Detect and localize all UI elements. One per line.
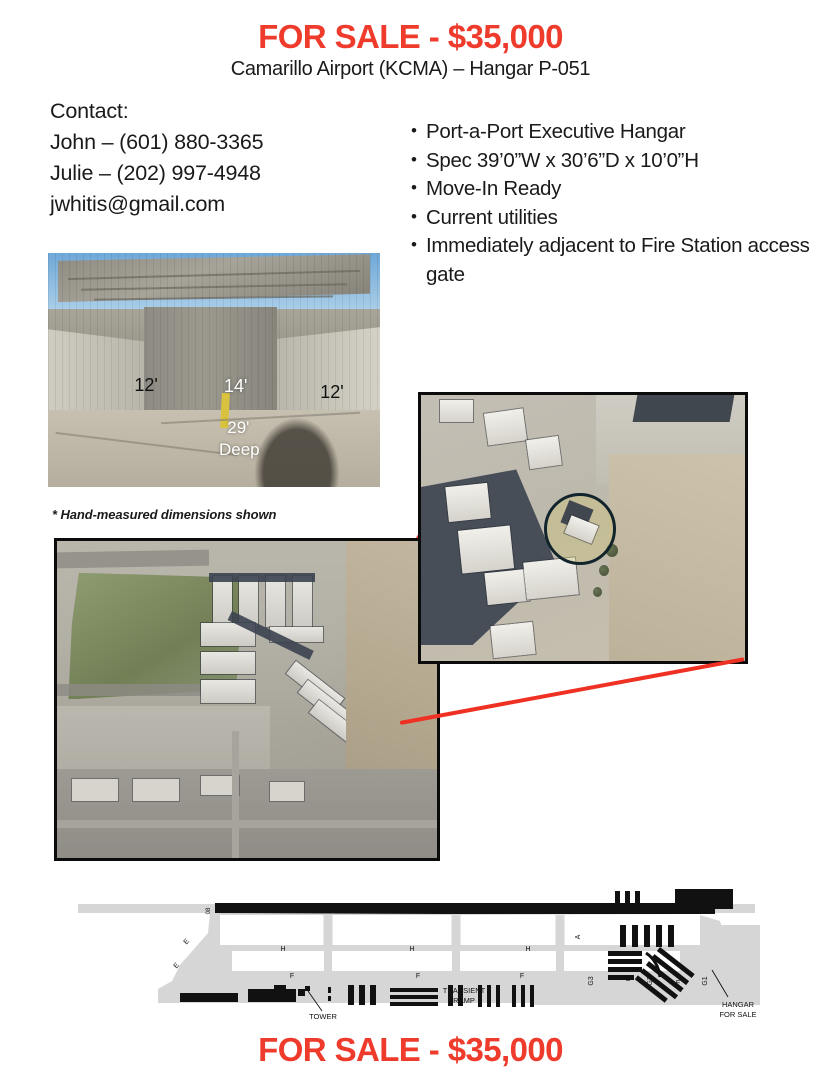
diagram-building [632,925,638,947]
aerial-building [270,782,304,801]
inset-building [491,622,536,658]
diagram-building [370,985,376,1005]
diagram-building [180,993,238,1002]
list-item: • Spec 39’0”W x 30’6”D x 10’0”H [411,147,811,176]
aerial-hangar [201,652,254,674]
connector-line-lower [400,657,745,725]
runway-label-west: 08 [206,907,212,914]
feature-list: • Port-a-Port Executive Hangar • Spec 39… [411,118,811,289]
runway-label-east: 26 [566,907,572,914]
diagram-building [328,996,331,1001]
taxiway-label-g1: G1 [702,976,709,985]
taxiway-label-h1: H [280,946,285,953]
diagram-building [298,989,305,996]
contact-block: Contact: John – (601) 880-3365 Julie – (… [50,96,263,220]
contact-line-julie: Julie – (202) 997-4948 [50,158,263,189]
diagram-building [608,967,642,972]
page-subheadline: Camarillo Airport (KCMA) – Hangar P-051 [0,58,821,81]
diagram-building [487,985,491,1007]
diagram-building [274,985,286,993]
inset-building [484,568,529,604]
list-item: • Immediately adjacent to Fire Station a… [411,232,811,289]
dimension-label-depth-word: Deep [219,440,260,460]
inset-building-roof [632,395,734,422]
taxiway-label-e1: E [183,938,192,946]
aerial-road [57,820,437,828]
list-item: • Move-In Ready [411,175,811,204]
taxiway-label-f2: F [416,973,420,980]
bullet-icon: • [411,174,417,203]
diagram-building [521,985,525,1007]
taxiway-label-g3: G3 [588,976,595,985]
diagram-building [668,925,674,947]
diagram-building [620,925,626,947]
control-tower-marker [305,986,310,991]
photo-caption: * Hand-measured dimensions shown [52,507,276,522]
inset-building [458,525,514,573]
inset-building [440,400,472,421]
contact-line-john: John – (601) 880-3365 [50,127,263,158]
aerial-building [133,779,179,801]
bullet-icon: • [411,117,417,146]
taxiway-label-g2: G2 [647,976,654,985]
aerial-road [232,731,240,858]
transient-ramp-label-line2: RAMP [453,996,475,1005]
inset-building [445,483,490,522]
diagram-building [635,891,640,911]
taxiway-label-f3: F [520,973,524,980]
bullet-icon: • [411,231,417,260]
transient-ramp-label-line1: TRANSIENT [443,986,486,995]
dimension-label-depth: 29' [227,418,249,438]
hangar-interior-photo: 12' 14' 12' 29' Deep [48,253,380,487]
diagram-building [675,889,733,903]
photo-back-wall [144,307,277,419]
aerial-taxiway [57,549,209,567]
contact-heading: Contact: [50,96,263,127]
tower-callout-label: TOWER [309,1012,337,1021]
taxiway-label-g: G [625,976,630,983]
diagram-building [390,1002,438,1006]
contact-email[interactable]: jwhitis@gmail.com [50,189,263,220]
diagram-building [608,959,642,964]
diagram-building [608,951,642,956]
hangar-location-inset-photo [418,392,748,664]
diagram-building [656,925,662,947]
diagram-building [625,891,630,911]
bullet-icon: • [411,146,417,175]
diagram-building [248,989,296,1002]
aerial-hangar [293,576,312,627]
feature-text: Spec 39’0”W x 30’6”D x 10’0”H [426,149,699,172]
bullet-icon: • [411,203,417,232]
taxiway-label-a: A [575,934,582,939]
diagram-building [348,985,354,1005]
feature-text: Move-In Ready [426,177,561,200]
feature-text: Port-a-Port Executive Hangar [426,120,685,143]
taxiway-label-f4: F [676,980,680,987]
aerial-hangar [201,680,254,702]
dimension-label-right: 12' [320,382,343,403]
photo-photographer-shadow [254,417,340,487]
footer-headline: FOR SALE - $35,000 [0,1031,821,1069]
inset-dirt-area [609,454,745,661]
diagram-building [390,995,438,999]
dimension-label-center: 14' [224,376,247,397]
aerial-building [72,779,118,801]
diagram-building [496,985,500,1007]
aerial-hangar-roofline [209,573,315,583]
inset-building [526,435,562,468]
runway-extension-west [78,904,215,913]
hangar-for-sale-label-line1: HANGAR [722,1000,755,1009]
taxiway-label-h2: H [409,946,414,953]
feature-text: Immediately adjacent to Fire Station acc… [426,234,810,286]
feature-text: Current utilities [426,206,558,229]
diagram-building [615,891,620,911]
page-headline: FOR SALE - $35,000 [0,18,821,56]
aerial-hangar [266,576,285,627]
diagram-building [390,988,438,992]
taxiway-label-f1: F [290,973,294,980]
diagram-building [708,901,733,909]
diagram-building [530,985,534,1007]
list-item: • Current utilities [411,204,811,233]
list-item: • Port-a-Port Executive Hangar [411,118,811,147]
aerial-overview-photo [54,538,440,861]
taxiway-label-h3: H [525,946,530,953]
hangar-for-sale-label-line2: FOR SALE [719,1010,756,1019]
diagram-building [359,985,365,1005]
airport-layout-diagram: 08 26 E E H H H F F F A G3 G G2 G1 F TRA… [60,885,770,1025]
dimension-label-left: 12' [134,375,157,396]
diagram-building [328,987,331,993]
diagram-building [512,985,516,1007]
diagram-building [644,925,650,947]
inset-building [484,408,527,445]
inset-tree [593,587,602,597]
